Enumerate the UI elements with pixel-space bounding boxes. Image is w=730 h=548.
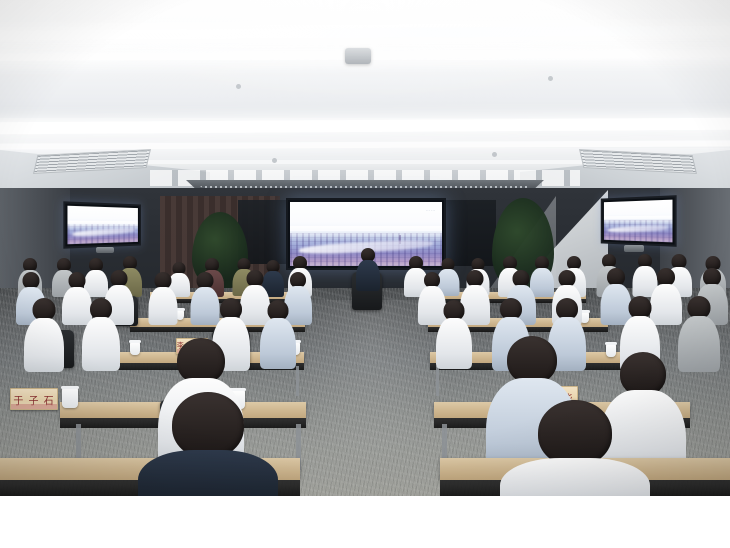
torso	[148, 287, 177, 325]
table-leg	[436, 366, 439, 396]
left-side-monitor[interactable]	[63, 201, 141, 248]
caption-bar	[0, 496, 730, 548]
cup-lid	[605, 342, 617, 345]
ceiling-band-upper	[0, 60, 730, 118]
cup	[62, 388, 78, 408]
head	[538, 400, 612, 466]
head	[507, 336, 557, 384]
horizon-haze	[290, 226, 442, 240]
head	[172, 392, 244, 458]
ceiling-sprinkler-icon	[236, 84, 241, 89]
left-monitor-mount	[96, 247, 114, 253]
center-aisle	[296, 300, 446, 496]
horizon-haze	[604, 216, 673, 225]
attendee	[24, 298, 64, 370]
attendee-nearest	[138, 392, 278, 496]
right-side-monitor[interactable]	[601, 195, 677, 247]
cup-lid	[61, 386, 79, 389]
torso	[500, 458, 650, 496]
horizon-haze	[67, 220, 137, 228]
torso	[138, 450, 278, 496]
screenshot-root: ······	[0, 0, 730, 548]
cup-lid	[129, 340, 141, 343]
attendee	[82, 298, 120, 370]
torso	[82, 317, 120, 371]
torso	[356, 260, 380, 291]
cup	[130, 342, 140, 355]
attendee-center-front	[356, 248, 380, 290]
ceiling-sensor-icon	[548, 76, 553, 81]
ceiling-speaker-icon	[345, 48, 371, 64]
right-monitor-mount	[624, 245, 644, 252]
nameplate-stripe	[11, 404, 57, 409]
conference-room-photo: ······	[0, 0, 730, 496]
front-wall-dark-recess-right	[444, 200, 496, 266]
right-monitor-content	[604, 200, 673, 243]
left-monitor-content	[67, 206, 137, 245]
ceiling-downlight-icon	[272, 158, 277, 163]
torso	[260, 318, 296, 369]
attendee	[148, 272, 177, 324]
attendee	[260, 300, 296, 368]
ceiling-downlight-icon	[492, 152, 497, 157]
torso	[24, 318, 64, 372]
torso	[436, 318, 472, 369]
nameplate-left-front: 于 子 石	[10, 388, 58, 410]
attendee-nearest	[500, 400, 650, 496]
table-leg	[296, 366, 299, 396]
screen-overlay-text: ······	[426, 209, 436, 213]
cup	[176, 310, 184, 320]
attendee	[436, 300, 472, 368]
